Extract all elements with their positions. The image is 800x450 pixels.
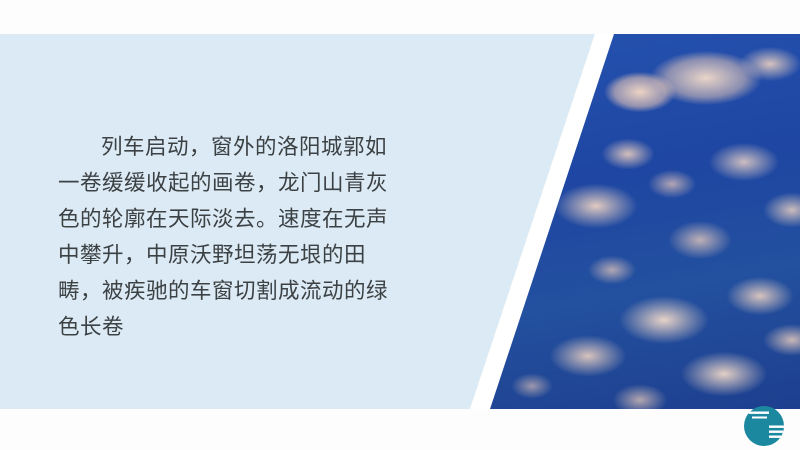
- text-block: 列车启动，窗外的洛阳城郭如一卷缓缓收起的画卷，龙门山青灰色的轮廓在天际淡去。速度…: [58, 130, 408, 346]
- body-paragraph: 列车启动，窗外的洛阳城郭如一卷缓缓收起的画卷，龙门山青灰色的轮廓在天际淡去。速度…: [58, 130, 408, 346]
- slide-canvas: 列车启动，窗外的洛阳城郭如一卷缓缓收起的画卷，龙门山青灰色的轮廓在天际淡去。速度…: [0, 0, 800, 450]
- teal-circle-lines-logo: [743, 405, 785, 447]
